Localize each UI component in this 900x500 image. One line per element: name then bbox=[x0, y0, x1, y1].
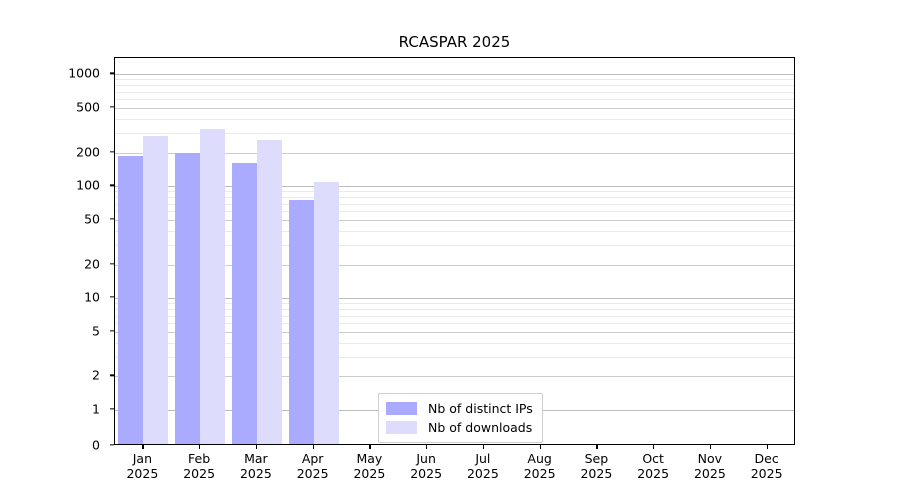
x-axis-tick-mark bbox=[256, 445, 257, 449]
bar-group bbox=[345, 58, 395, 444]
x-tick-month: Mar bbox=[244, 451, 268, 466]
bar-group bbox=[118, 58, 168, 444]
x-tick-month: Nov bbox=[698, 451, 722, 466]
bar-group bbox=[402, 58, 452, 444]
x-tick-year: 2025 bbox=[524, 466, 556, 481]
x-axis-tick-mark bbox=[767, 445, 768, 449]
x-tick-year: 2025 bbox=[353, 466, 385, 481]
x-axis-tick-label: Sep2025 bbox=[580, 451, 612, 481]
bar-downloads[interactable] bbox=[200, 129, 225, 444]
x-axis-tick-mark bbox=[540, 445, 541, 449]
x-tick-year: 2025 bbox=[240, 466, 272, 481]
x-tick-year: 2025 bbox=[183, 466, 215, 481]
x-axis-tick-label: Feb2025 bbox=[183, 451, 215, 481]
x-axis-tick-mark bbox=[199, 445, 200, 449]
x-axis-tick-label: Apr2025 bbox=[297, 451, 329, 481]
bar-group bbox=[629, 58, 679, 444]
x-tick-month: Jan bbox=[133, 451, 152, 466]
x-axis-tick-label: Mar2025 bbox=[240, 451, 272, 481]
bar-group bbox=[572, 58, 622, 444]
bar-downloads[interactable] bbox=[314, 182, 339, 444]
x-axis-tick-mark bbox=[313, 445, 314, 449]
bar-distinct-ips[interactable] bbox=[232, 163, 257, 444]
y-axis-tick-label: 20 bbox=[84, 256, 100, 271]
legend-label-downloads: Nb of downloads bbox=[428, 420, 532, 435]
x-tick-year: 2025 bbox=[751, 466, 783, 481]
bar-group bbox=[516, 58, 566, 444]
bar-distinct-ips[interactable] bbox=[175, 153, 200, 444]
y-axis: 01251020501002005001000 bbox=[0, 0, 114, 500]
plot-area bbox=[114, 57, 795, 445]
x-axis-tick-mark bbox=[483, 445, 484, 449]
bar-group bbox=[232, 58, 282, 444]
legend-item[interactable]: Nb of distinct IPs bbox=[386, 399, 533, 418]
x-tick-month: Oct bbox=[642, 451, 664, 466]
y-axis-tick-label: 10 bbox=[84, 290, 100, 305]
x-tick-month: Dec bbox=[755, 451, 779, 466]
bar-downloads[interactable] bbox=[143, 136, 168, 444]
x-tick-month: May bbox=[356, 451, 382, 466]
bar-group bbox=[289, 58, 339, 444]
y-axis-tick-label: 100 bbox=[76, 178, 100, 193]
x-tick-year: 2025 bbox=[637, 466, 669, 481]
y-axis-tick-label: 500 bbox=[76, 100, 100, 115]
x-axis-tick-mark bbox=[426, 445, 427, 449]
bar-group bbox=[743, 58, 793, 444]
x-axis: Jan2025Feb2025Mar2025Apr2025May2025Jun20… bbox=[114, 445, 795, 500]
x-axis-tick-label: Jul2025 bbox=[467, 451, 499, 481]
x-axis-tick-mark bbox=[710, 445, 711, 449]
legend-item[interactable]: Nb of downloads bbox=[386, 418, 533, 437]
chart-figure: RCASPAR 2025 01251020501002005001000 Jan… bbox=[0, 0, 900, 500]
y-axis-tick-label: 2 bbox=[92, 368, 100, 383]
x-tick-year: 2025 bbox=[580, 466, 612, 481]
x-tick-year: 2025 bbox=[410, 466, 442, 481]
y-axis-tick-label: 50 bbox=[84, 211, 100, 226]
legend-swatch-downloads bbox=[386, 421, 417, 434]
chart-title: RCASPAR 2025 bbox=[114, 33, 795, 51]
x-axis-tick-mark bbox=[653, 445, 654, 449]
y-axis-tick-label: 1000 bbox=[68, 66, 100, 81]
x-axis-tick-mark bbox=[369, 445, 370, 449]
x-tick-year: 2025 bbox=[467, 466, 499, 481]
x-axis-tick-label: Dec2025 bbox=[751, 451, 783, 481]
bar-downloads[interactable] bbox=[257, 140, 282, 444]
y-axis-tick-label: 1 bbox=[92, 402, 100, 417]
y-axis-tick-label: 0 bbox=[92, 438, 100, 453]
x-tick-month: Aug bbox=[527, 451, 551, 466]
x-tick-month: Sep bbox=[585, 451, 609, 466]
bar-series-container bbox=[115, 58, 794, 444]
x-tick-year: 2025 bbox=[694, 466, 726, 481]
x-tick-month: Jul bbox=[475, 451, 490, 466]
x-axis-tick-label: Aug2025 bbox=[524, 451, 556, 481]
x-tick-year: 2025 bbox=[297, 466, 329, 481]
y-axis-tick-label: 200 bbox=[76, 144, 100, 159]
x-axis-tick-label: Jun2025 bbox=[410, 451, 442, 481]
chart-legend: Nb of distinct IPs Nb of downloads bbox=[378, 393, 543, 443]
bar-group bbox=[459, 58, 509, 444]
bar-distinct-ips[interactable] bbox=[289, 200, 314, 444]
bar-group bbox=[175, 58, 225, 444]
x-axis-tick-mark bbox=[142, 445, 143, 449]
bar-group bbox=[686, 58, 736, 444]
x-axis-tick-label: Jan2025 bbox=[126, 451, 158, 481]
x-axis-tick-label: Oct2025 bbox=[637, 451, 669, 481]
x-tick-month: Jun bbox=[416, 451, 436, 466]
x-tick-year: 2025 bbox=[126, 466, 158, 481]
x-axis-tick-label: May2025 bbox=[353, 451, 385, 481]
legend-label-distinct-ips: Nb of distinct IPs bbox=[428, 401, 533, 416]
bar-distinct-ips[interactable] bbox=[118, 156, 143, 444]
y-axis-tick-label: 5 bbox=[92, 323, 100, 338]
x-tick-month: Apr bbox=[302, 451, 324, 466]
x-tick-month: Feb bbox=[188, 451, 210, 466]
x-axis-tick-mark bbox=[596, 445, 597, 449]
legend-swatch-distinct-ips bbox=[386, 402, 417, 415]
x-axis-tick-label: Nov2025 bbox=[694, 451, 726, 481]
